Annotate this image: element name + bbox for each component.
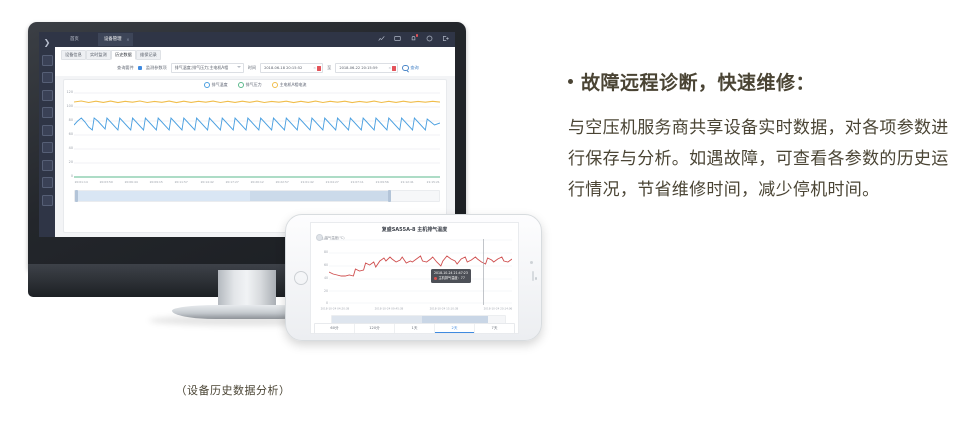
sidebar-item-database[interactable]	[42, 195, 53, 206]
speaker-icon	[530, 261, 533, 264]
x-tick: 20:17:27	[225, 180, 238, 187]
sidebar-item-device[interactable]	[42, 72, 53, 83]
sidebar-item-briefcase[interactable]	[42, 55, 53, 66]
notification-badge	[416, 34, 419, 37]
x-tick: 20:03:59	[100, 180, 113, 187]
promo-page: ❯ 首页 设备管理 ×	[0, 0, 970, 422]
range-tab-7day[interactable]: 7天	[475, 324, 514, 333]
x-tick: 2018-10-24 15:10:38	[429, 307, 458, 311]
range-fill-left	[75, 191, 250, 201]
close-icon[interactable]: ×	[126, 33, 129, 46]
x-tick: 2018-10-24 20:14:06	[484, 307, 513, 311]
sub-tab-history[interactable]: 历史数据	[111, 50, 136, 60]
bell-icon[interactable]	[410, 35, 417, 42]
start-date-value: 2018-06-18 20:15:52	[264, 66, 302, 70]
chart-range-slider[interactable]	[74, 190, 440, 202]
chart-svg	[74, 92, 440, 180]
desktop-screen: ❯ 首页 设备管理 ×	[39, 32, 455, 237]
monitor-param-label: 监测参数项	[146, 65, 167, 71]
legend-item-discharge-pressure[interactable]: 排气压力	[238, 82, 262, 88]
sidebar-item-grid[interactable]	[42, 142, 53, 153]
monitor-param-value: 排气温度;排气压力;主电机A相	[175, 65, 228, 70]
y-tick-20: 20	[65, 160, 73, 164]
marketing-heading-row: 故障远程诊断，快速维修：	[568, 68, 950, 95]
marketing-body: 与空压机服务商共享设备实时数据，对各项参数进行保存与分析。如遇故障，可查看各参数…	[568, 113, 950, 206]
date-range-to-label: 至	[327, 65, 331, 71]
sidebar-item-alert[interactable]	[42, 160, 53, 171]
y-tick-80: 80	[65, 118, 73, 122]
y-tick-20: 20	[318, 289, 328, 293]
chart-legend: 排气温度 排气压力 主电机A相电流	[64, 82, 446, 88]
search-button[interactable]: 查询	[402, 65, 418, 72]
app-topbar: 首页 设备管理 ×	[55, 32, 455, 47]
y-tick-100: 100	[65, 104, 73, 108]
y-tick-120: 120	[65, 90, 73, 94]
logout-icon[interactable]	[442, 35, 449, 42]
x-tick: 20:06:44	[125, 180, 138, 187]
camera-icon	[535, 277, 538, 280]
app-sidebar[interactable]: ❯	[39, 32, 55, 237]
x-tick: 20:11:57	[175, 180, 188, 187]
x-tick: 20:22:57	[275, 180, 288, 187]
legend-label: 排气温度	[212, 82, 228, 88]
start-date-input[interactable]: 2018-06-18 20:15:52 ×	[260, 63, 323, 73]
clear-icon[interactable]: ×	[313, 64, 316, 72]
x-tick: 20:09:15	[150, 180, 163, 187]
calendar-icon[interactable]	[392, 66, 397, 71]
range-tab-120min[interactable]: 120分	[355, 324, 395, 333]
history-chart-panel: 排气温度 排气压力 主电机A相电流 120 100	[63, 79, 447, 233]
legend-marker-icon	[238, 82, 244, 88]
range-fill-left	[332, 316, 422, 323]
sidebar-item-calendar[interactable]	[42, 90, 53, 101]
chevron-down-icon	[237, 66, 241, 68]
time-label: 时间	[248, 65, 256, 71]
legend-label: 主电机A相电流	[280, 82, 307, 88]
end-date-input[interactable]: 2018-06-22 20:15:59 ×	[335, 63, 398, 73]
sidebar-item-report[interactable]	[42, 125, 53, 136]
tooltip-value: 主机排气温度：77	[439, 276, 465, 281]
tab-home[interactable]: 首页	[64, 33, 85, 46]
mobile-line-chart[interactable]: 100 80 60 40 20 0	[329, 239, 512, 305]
range-tab-2day[interactable]: 2天	[435, 324, 475, 333]
tab-device-management[interactable]: 设备管理 ×	[98, 33, 133, 46]
tab-device-management-label: 设备管理	[104, 37, 122, 42]
search-button-label: 查询	[410, 65, 418, 71]
x-tick: 20:01:14	[75, 180, 88, 187]
chart-icon[interactable]	[378, 35, 385, 42]
y-tick-60: 60	[318, 263, 328, 267]
chevron-right-icon[interactable]: ❯	[39, 38, 55, 48]
x-tick: 21:07:11	[351, 180, 364, 187]
legend-marker-icon	[204, 82, 210, 88]
range-fill-right	[250, 191, 388, 201]
mobile-page-title: 复盛SA55A-8 主机排气温度	[311, 226, 518, 233]
legend-label: 排气压力	[246, 82, 262, 88]
end-date-value: 2018-06-22 20:15:59	[339, 66, 377, 70]
mobile-x-axis-ticks: 2018-10-24 04:20:38 2018-10-24 09:45:38 …	[319, 307, 514, 311]
x-tick: 21:15:21	[426, 180, 439, 187]
clear-icon[interactable]: ×	[388, 64, 391, 72]
history-line-chart[interactable]: 120 100 80 60 40 20 0	[74, 92, 440, 180]
sidebar-item-clipboard[interactable]	[42, 107, 53, 118]
marketing-copy: 故障远程诊断，快速维修： 与空压机服务商共享设备实时数据，对各项参数进行保存与分…	[568, 68, 950, 206]
y-tick-40: 40	[318, 276, 328, 280]
filter-checkbox-label: 查询要件	[117, 65, 134, 71]
x-tick: 21:01:42	[301, 180, 314, 187]
legend-item-motor-current[interactable]: 主电机A相电流	[272, 82, 307, 88]
y-tick-80: 80	[318, 250, 328, 254]
monitor-stand-neck	[218, 270, 276, 308]
y-tick-100: 100	[318, 237, 328, 241]
iphone-mockup: 复盛SA55A-8 主机排气温度 排气温度(℃) 100 80 60 40 20…	[285, 214, 542, 341]
marketing-heading: 故障远程诊断，快速维修：	[581, 68, 815, 95]
range-fill-right	[422, 316, 488, 323]
y-tick-0: 0	[65, 174, 73, 178]
chart-tooltip: 2018-10-24 21:47:23 主机排气温度：77	[431, 269, 471, 283]
sub-tab-realtime[interactable]: 实时监测	[86, 50, 111, 60]
x-tick: 21:09:56	[376, 180, 389, 187]
figure-caption: （设备历史数据分析）	[0, 382, 466, 398]
device-management-app: ❯ 首页 设备管理 ×	[39, 32, 455, 237]
message-icon[interactable]	[394, 35, 401, 42]
y-tick-60: 60	[65, 132, 73, 136]
x-tick: 2018-10-24 04:20:38	[321, 307, 350, 311]
help-icon[interactable]	[426, 35, 433, 42]
x-tick: 20:20:12	[250, 180, 263, 187]
range-tab-bar: 60分 120分 1天 2天 7天	[314, 323, 515, 334]
x-axis-ticks: 20:01:14 20:03:59 20:06:44 20:09:15 20:1…	[74, 180, 440, 188]
sub-tab-maintenance[interactable]: 维保记录	[136, 50, 161, 60]
range-tab-1day[interactable]: 1天	[395, 324, 435, 333]
bullet-dot-icon	[568, 79, 573, 84]
home-button[interactable]	[294, 271, 308, 285]
sub-tab-bar: 设备信息 实时监测 历史数据 维保记录	[55, 47, 455, 61]
monitor-param-select[interactable]: 排气温度;排气压力;主电机A相	[171, 63, 244, 73]
tooltip-series-dot-icon	[434, 277, 437, 280]
y-tick-40: 40	[65, 146, 73, 150]
x-tick: 2018-10-24 09:45:38	[375, 307, 404, 311]
search-icon	[402, 65, 409, 72]
filter-checkbox[interactable]	[138, 66, 142, 70]
range-handle-left[interactable]	[75, 190, 78, 202]
sub-tab-device-info[interactable]: 设备信息	[61, 50, 86, 60]
range-handle-right[interactable]	[388, 190, 391, 202]
legend-marker-icon	[272, 82, 278, 88]
volume-buttons[interactable]	[532, 271, 534, 281]
x-tick: 21:12:41	[401, 180, 414, 187]
x-tick: 20:14:42	[200, 180, 213, 187]
y-tick-0: 0	[318, 301, 328, 305]
sidebar-item-lock[interactable]	[42, 177, 53, 188]
x-tick: 21:04:27	[326, 180, 339, 187]
header-icon-group	[378, 35, 449, 42]
mobile-screen: 复盛SA55A-8 主机排气温度 排气温度(℃) 100 80 60 40 20…	[310, 222, 519, 334]
calendar-icon[interactable]	[317, 66, 322, 71]
filter-bar: 查询要件 监测参数项 排气温度;排气压力;主电机A相 时间 2018-06-18…	[55, 60, 455, 76]
mobile-chart-svg	[329, 239, 512, 305]
legend-item-discharge-temp[interactable]: 排气温度	[204, 82, 228, 88]
range-tab-60min[interactable]: 60分	[315, 324, 355, 333]
